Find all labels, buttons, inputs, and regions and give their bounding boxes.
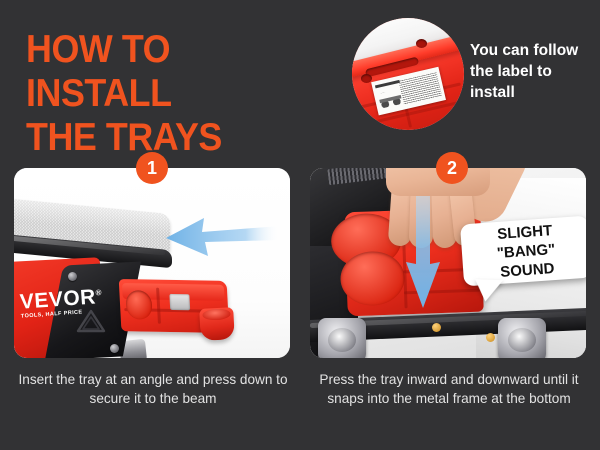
label-heading-bar [376,80,401,88]
step-2-caption: Press the tray inward and downward until… [306,370,592,408]
cup-holder-lip [202,309,231,321]
screw-icon [68,272,77,281]
step-badge-1: 1 [136,152,168,184]
caster-hub [328,328,357,353]
label-photo-inset [352,18,464,130]
step-2-photo: SLIGHT "BANG" SOUND [310,168,586,358]
magnet-pad [169,293,190,309]
header-note: You can follow the label to install [470,40,594,103]
tray-cup-holder [199,307,235,341]
left-arrow-icon [164,216,280,260]
caster-hub [508,328,537,353]
step-1-caption: Insert the tray at an angle and press do… [10,370,296,408]
bolt-icon [432,323,441,332]
caster-wheel [318,318,366,358]
label-diagram-icon [379,89,404,108]
label-text-lines [399,72,442,104]
step-1-photo: VEVOR® TOOLS, HALF PRICE [14,168,290,358]
triangle-emblem-icon [76,308,106,334]
page-title: HOW TO INSTALL THE TRAYS [26,28,320,160]
caster-wheel [498,318,546,358]
step-badge-2: 2 [436,152,468,184]
down-arrow-icon [404,196,442,308]
callout-text: SLIGHT "BANG" SOUND [460,216,586,287]
sound-callout-bubble: SLIGHT "BANG" SOUND [460,216,586,287]
callout-tail [474,279,503,302]
registered-mark: ® [95,288,102,297]
screw-icon [110,344,119,353]
bolt-icon [486,333,495,342]
header: HOW TO INSTALL THE TRAYS You can follow … [0,0,600,150]
